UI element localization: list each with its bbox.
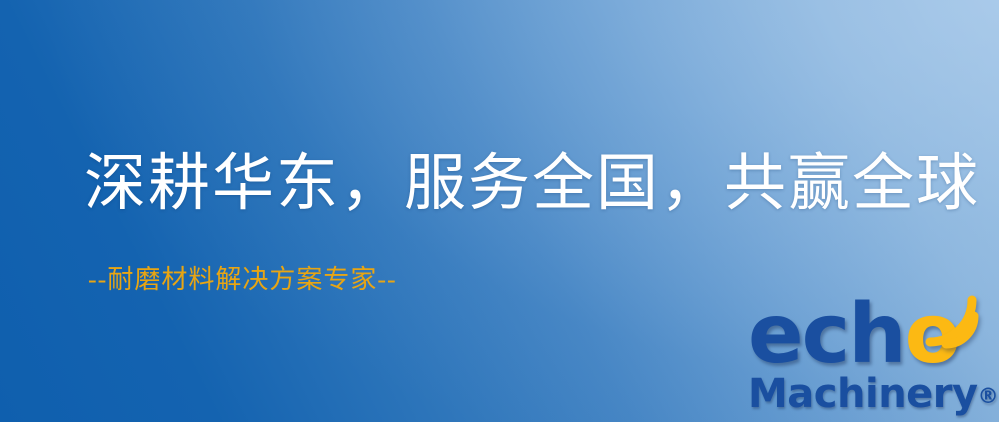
signal-arcs-icon bbox=[920, 290, 982, 352]
promo-banner: 深耕华东，服务全国，共赢全球 --耐磨材料解决方案专家-- echo Machi… bbox=[0, 0, 999, 422]
registered-trademark-icon: ® bbox=[978, 384, 999, 408]
logo-wordmark-blue-text: ech bbox=[748, 287, 905, 382]
headline-text: 深耕华东，服务全国，共赢全球 bbox=[84, 152, 980, 217]
echo-machinery-logo: echo Machinery® bbox=[748, 296, 996, 420]
logo-tagline: Machinery® bbox=[748, 372, 999, 418]
subheadline-text: --耐磨材料解决方案专家-- bbox=[88, 266, 397, 295]
logo-tagline-text: Machinery bbox=[748, 371, 978, 417]
logo-wordmark: echo bbox=[748, 296, 996, 374]
